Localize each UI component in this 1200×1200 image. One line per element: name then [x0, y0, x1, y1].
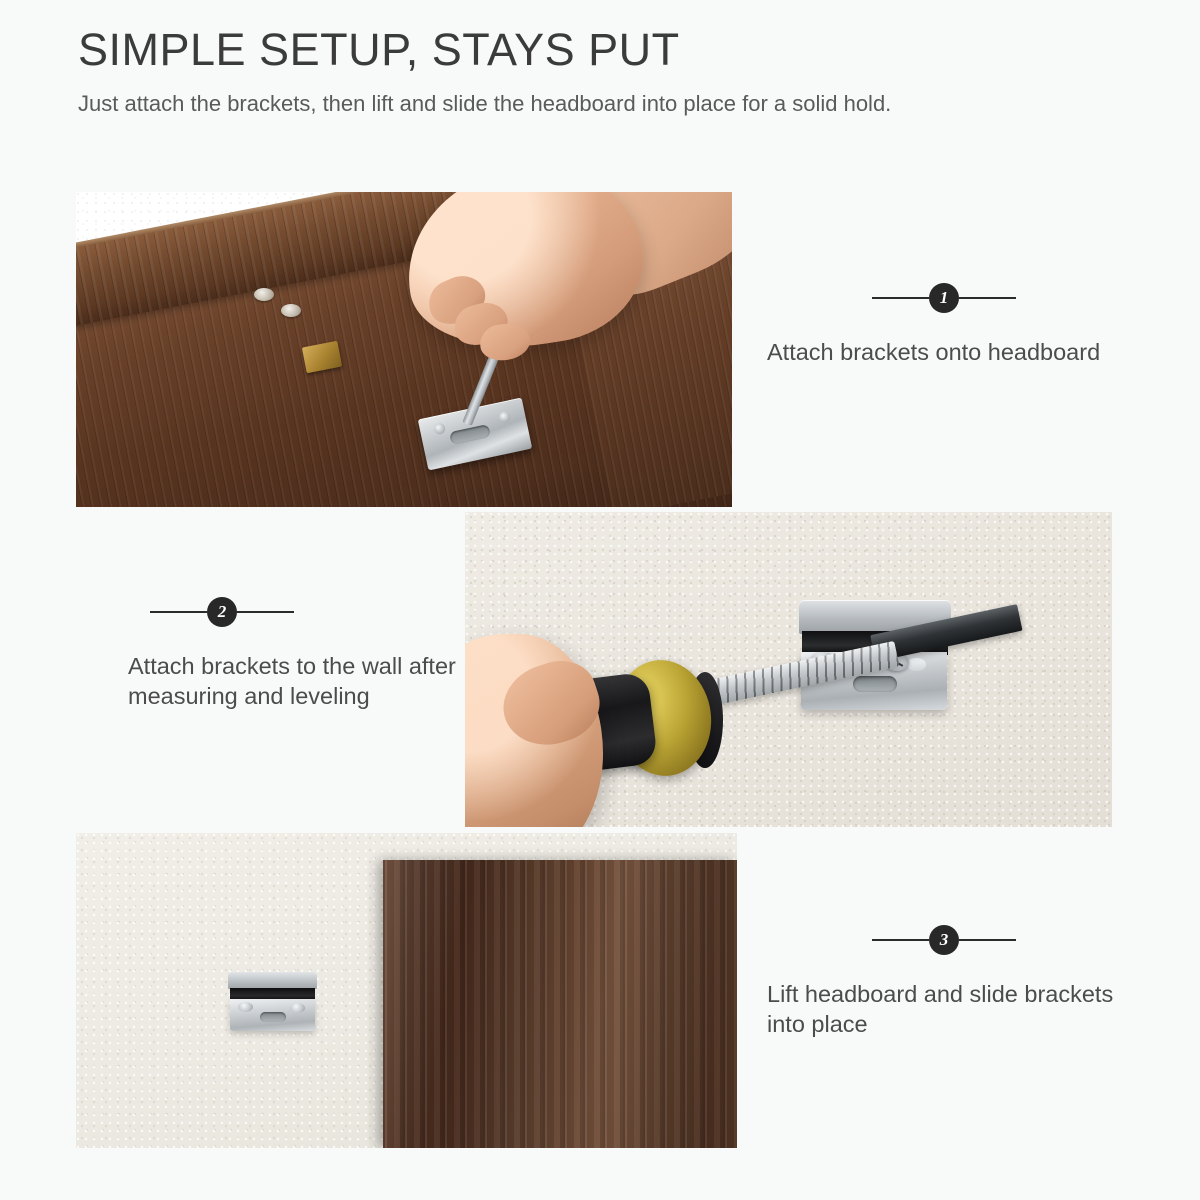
- step-1-caption: 1 Attach brackets onto headboard: [767, 283, 1127, 367]
- headboard-panel: [383, 860, 737, 1148]
- page-title: SIMPLE SETUP, STAYS PUT: [78, 26, 1078, 74]
- bracket-screw-hole: [498, 410, 511, 423]
- marker-line-right: [237, 611, 294, 613]
- bracket-slot: [260, 1012, 286, 1022]
- bracket-screw-icon: [290, 1003, 305, 1013]
- step-number-badge: 1: [929, 283, 959, 313]
- marker-line-left: [150, 611, 207, 613]
- step-3-text: Lift headboard and slide brackets into p…: [767, 979, 1127, 1039]
- bracket-slot: [853, 676, 897, 692]
- marker-line-left: [872, 939, 929, 941]
- marker-line-left: [872, 297, 929, 299]
- step-3-photo: [76, 833, 737, 1148]
- step-2-caption: 2 Attach brackets to the wall after meas…: [128, 597, 468, 711]
- bracket-top-lip: [228, 972, 317, 989]
- bracket-screw-hole: [433, 422, 446, 435]
- step-3-marker: 3: [872, 925, 1127, 955]
- step-number-badge: 2: [207, 597, 237, 627]
- step-number-badge: 3: [929, 925, 959, 955]
- page-subtitle: Just attach the brackets, then lift and …: [78, 88, 908, 119]
- wood-screw-icon: [254, 288, 274, 301]
- headboard-panel-sheen: [383, 860, 737, 1148]
- step-2-marker: 2: [150, 597, 468, 627]
- step-1-text: Attach brackets onto headboard: [767, 337, 1127, 367]
- marker-line-right: [959, 297, 1016, 299]
- header: SIMPLE SETUP, STAYS PUT Just attach the …: [78, 26, 1078, 119]
- step-1-marker: 1: [872, 283, 1127, 313]
- bracket-notch: [907, 658, 926, 671]
- step-2-photo: [465, 512, 1112, 827]
- step-1-photo: [76, 192, 732, 507]
- bracket-slot: [449, 424, 491, 445]
- infographic-page: SIMPLE SETUP, STAYS PUT Just attach the …: [0, 0, 1200, 1200]
- wood-screw-icon: [281, 304, 301, 317]
- step-2-text: Attach brackets to the wall after measur…: [128, 651, 468, 711]
- bracket-screw-icon: [238, 1002, 253, 1012]
- marker-line-right: [959, 939, 1016, 941]
- step-3-caption: 3 Lift headboard and slide brackets into…: [767, 925, 1127, 1039]
- wall-metal-bracket: [228, 972, 317, 1032]
